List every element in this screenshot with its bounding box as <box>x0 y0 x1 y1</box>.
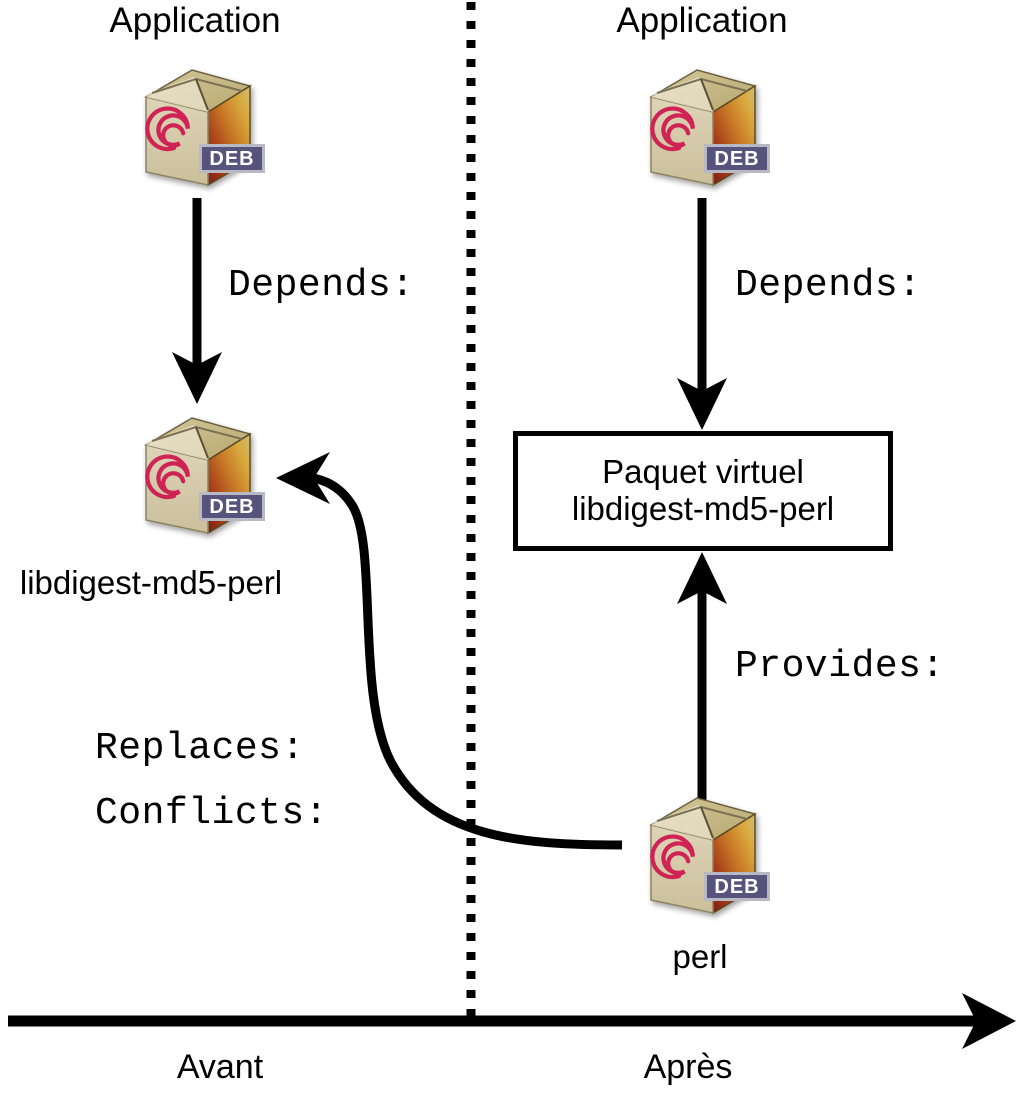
label-libdigest-md5-perl: libdigest-md5-perl <box>20 566 282 601</box>
arrow-provides <box>677 552 727 800</box>
virtual-package-line2: libdigest-md5-perl <box>572 491 834 528</box>
arrow-left-depends <box>172 198 222 404</box>
label-perl: perl <box>672 940 727 975</box>
label-provides: Provides: <box>735 647 945 687</box>
axis-label-avant: Avant <box>177 1049 263 1085</box>
package-icon-perl: DEB <box>627 780 777 930</box>
svg-text:DEB: DEB <box>714 148 759 170</box>
deb-badge: DEB <box>704 144 770 173</box>
package-icon-right-application: DEB <box>627 52 777 202</box>
svg-text:DEB: DEB <box>209 148 254 170</box>
svg-text:DEB: DEB <box>209 496 254 518</box>
diagram-canvas: DEB DEB <box>0 0 1024 1094</box>
label-right-depends: Depends: <box>735 266 921 306</box>
virtual-package-line1: Paquet virtuel <box>602 454 804 491</box>
timeline-axis-arrow <box>8 993 1016 1049</box>
virtual-package-box: Paquet virtuel libdigest-md5-perl <box>513 431 893 551</box>
axis-label-apres: Après <box>644 1049 733 1085</box>
package-icon-left-application: DEB <box>122 52 272 202</box>
label-replaces: Replaces: <box>95 729 305 769</box>
label-right-application: Application <box>616 2 787 39</box>
deb-badge: DEB <box>199 144 265 173</box>
label-left-application: Application <box>109 2 280 39</box>
svg-text:DEB: DEB <box>714 876 759 898</box>
label-conflicts: Conflicts: <box>95 794 328 834</box>
arrow-right-depends <box>677 198 727 430</box>
deb-badge: DEB <box>704 872 770 901</box>
label-left-depends: Depends: <box>228 266 414 306</box>
package-icon-libdigest-md5-perl: DEB <box>122 400 272 550</box>
deb-badge: DEB <box>199 492 265 521</box>
